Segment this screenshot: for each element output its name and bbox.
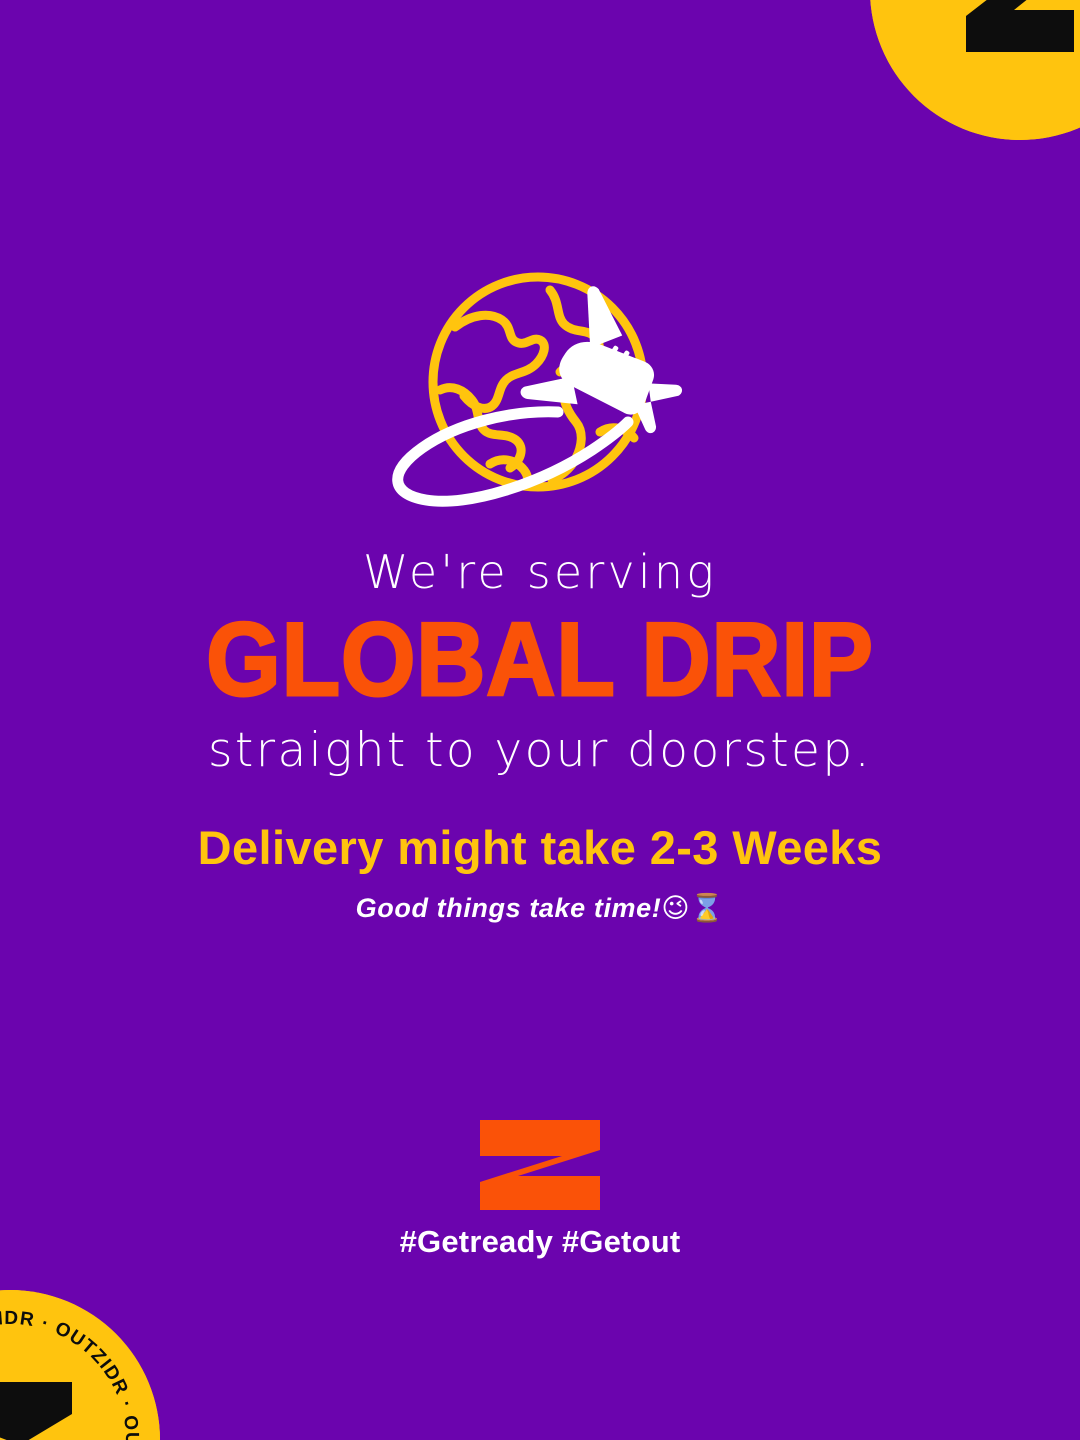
footer-block: #Getready #Getout bbox=[0, 1118, 1080, 1260]
delivery-subtext-label: Good things take time! bbox=[356, 893, 662, 923]
badge-bottom-left: OUTZIDR · OUTZIDR · OUTZIDR · OUTZIDR · … bbox=[0, 1290, 160, 1440]
orbit-swoosh bbox=[398, 412, 628, 501]
delivery-notice-block: Delivery might take 2-3 Weeks Good thing… bbox=[0, 822, 1080, 924]
headline-block: We're serving GLOBAL DRIP straight to yo… bbox=[0, 548, 1080, 776]
hourglass-icon: ⌛ bbox=[690, 893, 724, 924]
hero-illustration bbox=[0, 272, 1080, 517]
winking-face-icon: 😉 bbox=[661, 893, 690, 924]
delivery-subtext: Good things take time!😉⌛ bbox=[0, 892, 1080, 924]
poster-canvas: OUTZIDR · OUTZIDR · OUTZIDR · OUTZIDR · bbox=[0, 0, 1080, 1440]
hashtags-text: #Getready #Getout bbox=[0, 1224, 1080, 1260]
subline-text: straight to your doorstep. bbox=[0, 726, 1080, 775]
headline-text: GLOBAL DRIP bbox=[43, 608, 1037, 712]
delivery-time-text: Delivery might take 2-3 Weeks bbox=[0, 822, 1080, 874]
badge-top-right: OUTZIDR · OUTZIDR · OUTZIDR · OUTZIDR · bbox=[870, 0, 1080, 140]
eyebrow-text: We're serving bbox=[0, 548, 1080, 596]
z-logo bbox=[476, 1118, 604, 1212]
